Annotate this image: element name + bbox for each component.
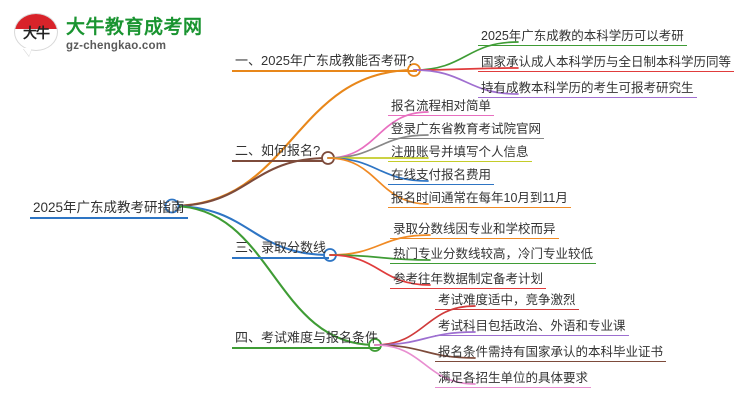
mindmap-leaf-2-3-label: 注册账号并填写个人信息 xyxy=(388,141,532,161)
mindmap-root-node[interactable]: 2025年广东成教考研指南 xyxy=(30,196,188,219)
mindmap-leaf-2-4[interactable]: 在线支付报名费用 xyxy=(388,164,494,185)
mindmap-leaf-4-2[interactable]: 考试科目包括政治、外语和专业课 xyxy=(435,315,629,336)
mindmap-leaf-1-3[interactable]: 持有成教本科学历的考生可报考研究生 xyxy=(478,77,697,98)
mindmap-leaf-2-5-label: 报名时间通常在每年10月到11月 xyxy=(388,187,571,207)
mindmap-branch-3-label: 三、录取分数线 xyxy=(232,237,329,257)
mindmap-leaf-1-2-label: 国家承认成人本科学历与全日制本科学历同等 xyxy=(478,51,734,71)
mindmap-leaf-2-1[interactable]: 报名流程相对简单 xyxy=(388,95,494,116)
mindmap-leaf-2-5[interactable]: 报名时间通常在每年10月到11月 xyxy=(388,187,571,208)
mindmap-root-node-label: 2025年广东成教考研指南 xyxy=(30,196,188,217)
mindmap-branch-1[interactable]: 一、2025年广东成教能否考研? xyxy=(232,50,417,72)
mindmap-leaf-2-2-label: 登录广东省教育考试院官网 xyxy=(388,118,544,138)
mindmap-leaf-3-2-label: 热门专业分数线较高，冷门专业较低 xyxy=(390,243,596,263)
mindmap-leaf-2-3[interactable]: 注册账号并填写个人信息 xyxy=(388,141,532,162)
mindmap-leaf-1-2[interactable]: 国家承认成人本科学历与全日制本科学历同等 xyxy=(478,51,734,72)
mindmap-leaf-3-1-label: 录取分数线因专业和学校而异 xyxy=(390,218,559,238)
mindmap-leaf-3-2[interactable]: 热门专业分数线较高，冷门专业较低 xyxy=(390,243,596,264)
mindmap-leaf-1-3-label: 持有成教本科学历的考生可报考研究生 xyxy=(478,77,697,97)
mindmap-leaf-1-1-label: 2025年广东成教的本科学历可以考研 xyxy=(478,25,687,45)
mindmap-leaf-4-4-label: 满足各招生单位的具体要求 xyxy=(435,367,591,387)
mindmap-leaf-2-1-label: 报名流程相对简单 xyxy=(388,95,494,115)
mindmap-branch-3[interactable]: 三、录取分数线 xyxy=(232,237,329,259)
mindmap-leaf-3-3[interactable]: 参考往年数据制定备考计划 xyxy=(390,268,546,289)
mindmap-branch-2-label: 二、如何报名? xyxy=(232,140,323,160)
mindmap-leaf-4-3[interactable]: 报名条件需持有国家承认的本科毕业证书 xyxy=(435,341,666,362)
mindmap-leaf-4-4[interactable]: 满足各招生单位的具体要求 xyxy=(435,367,591,388)
mindmap-leaf-4-2-label: 考试科目包括政治、外语和专业课 xyxy=(435,315,629,335)
mindmap-leaf-4-1[interactable]: 考试难度适中，竞争激烈 xyxy=(435,289,579,310)
mindmap-leaf-3-1[interactable]: 录取分数线因专业和学校而异 xyxy=(390,218,559,239)
mindmap-branch-1-label: 一、2025年广东成教能否考研? xyxy=(232,50,417,70)
mindmap-leaf-4-1-label: 考试难度适中，竞争激烈 xyxy=(435,289,579,309)
mindmap-leaf-2-2[interactable]: 登录广东省教育考试院官网 xyxy=(388,118,544,139)
mindmap-branch-2[interactable]: 二、如何报名? xyxy=(232,140,323,162)
mindmap-leaf-2-4-label: 在线支付报名费用 xyxy=(388,164,494,184)
mindmap-leaf-3-3-label: 参考往年数据制定备考计划 xyxy=(390,268,546,288)
mindmap-branch-4-label: 四、考试难度与报名条件 xyxy=(232,327,381,347)
mindmap-branch-4[interactable]: 四、考试难度与报名条件 xyxy=(232,327,381,349)
mindmap-leaf-4-3-label: 报名条件需持有国家承认的本科毕业证书 xyxy=(435,341,666,361)
mindmap-leaf-1-1[interactable]: 2025年广东成教的本科学历可以考研 xyxy=(478,25,687,46)
